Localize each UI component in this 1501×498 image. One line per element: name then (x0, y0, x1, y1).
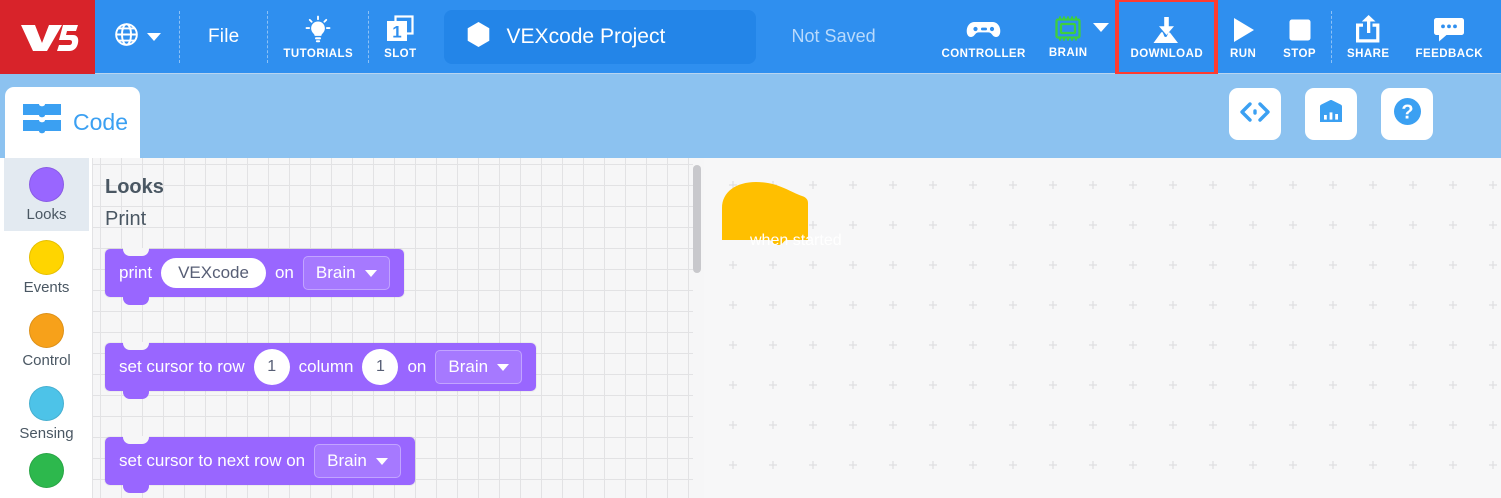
help-button[interactable]: ? (1381, 88, 1433, 140)
toolbar-divider (267, 11, 268, 63)
tutorials-label: TUTORIALS (283, 48, 353, 60)
file-menu-button[interactable]: File (182, 0, 265, 73)
download-icon (1150, 15, 1183, 45)
brain-label: BRAIN (1049, 47, 1088, 59)
set-cursor-next-row-block[interactable]: set cursor to next row on Brain (105, 437, 415, 485)
code-blocks-icon (21, 101, 63, 144)
lightbulb-icon (303, 15, 333, 45)
chip-icon (1051, 14, 1085, 44)
vexcode-app: File TUTORIALS (0, 0, 1501, 498)
run-button[interactable]: RUN (1216, 0, 1270, 74)
run-label: RUN (1230, 48, 1256, 60)
share-label: SHARE (1347, 48, 1390, 60)
share-button[interactable]: SHARE (1334, 0, 1403, 74)
tab-code[interactable]: Code (5, 87, 140, 158)
category-looks[interactable]: Looks (4, 158, 89, 231)
download-label: DOWNLOAD (1130, 48, 1203, 60)
view-code-button[interactable] (1229, 88, 1281, 140)
globe-icon (113, 21, 140, 53)
feedback-button[interactable]: FEEDBACK (1403, 0, 1501, 74)
download-button[interactable]: DOWNLOAD (1117, 0, 1216, 74)
cursor-column-input[interactable]: 1 (362, 349, 398, 385)
editor-body: Looks Events Control Sensing Looks Pri (0, 158, 1501, 498)
block-text: set cursor to next row on (119, 451, 305, 471)
palette-scrollbar-thumb[interactable] (693, 165, 701, 273)
block-palette[interactable]: Looks Print print VEXcode on Brain set c… (93, 158, 693, 498)
brain-button[interactable]: BRAIN (1039, 0, 1092, 74)
brain-group: BRAIN (1039, 0, 1118, 73)
speech-bubble-icon (1433, 15, 1465, 45)
chevron-down-icon (497, 364, 509, 371)
slot-button[interactable]: 1 SLOT (371, 0, 429, 74)
gamepad-icon (966, 15, 1002, 45)
cursor-row-input[interactable]: 1 (254, 349, 290, 385)
controller-label: CONTROLLER (941, 48, 1025, 60)
block-text: column (299, 357, 354, 377)
hexagon-icon (466, 21, 491, 53)
angle-brackets-icon (1239, 99, 1271, 130)
chevron-down-icon (365, 270, 377, 277)
toolbar-spacer (876, 0, 929, 73)
toolbar-divider (179, 11, 180, 63)
category-label: Events (24, 279, 70, 296)
svg-text:1: 1 (393, 23, 402, 42)
stop-button[interactable]: STOP (1270, 0, 1329, 74)
block-text: print (119, 263, 152, 283)
category-rail: Looks Events Control Sensing (0, 158, 93, 498)
category-color-dot (29, 386, 64, 421)
cursor-device-dropdown[interactable]: Brain (435, 350, 522, 384)
tutorials-button[interactable]: TUTORIALS (270, 0, 366, 74)
category-color-dot (29, 167, 64, 202)
share-export-icon (1353, 15, 1383, 45)
category-next[interactable] (4, 450, 89, 490)
print-text-input[interactable]: VEXcode (161, 258, 266, 288)
code-workspace[interactable]: when started (704, 158, 1501, 498)
feedback-label: FEEDBACK (1416, 48, 1484, 60)
print-device-dropdown[interactable]: Brain (303, 256, 390, 290)
slot-pages-icon: 1 (384, 15, 416, 45)
category-label: Looks (26, 206, 66, 223)
category-color-dot (29, 453, 64, 488)
controller-button[interactable]: CONTROLLER (928, 0, 1038, 74)
next-row-device-dropdown[interactable]: Brain (314, 444, 401, 478)
dropdown-value: Brain (448, 357, 488, 377)
category-events[interactable]: Events (4, 231, 89, 304)
toolbar-divider (1331, 11, 1332, 63)
v5-logo[interactable] (0, 0, 95, 74)
print-block[interactable]: print VEXcode on Brain (105, 249, 404, 297)
file-menu-label: File (208, 26, 239, 48)
category-color-dot (29, 240, 64, 275)
block-text: on (407, 357, 426, 377)
dropdown-value: Brain (316, 263, 356, 283)
svg-text:?: ? (1401, 102, 1413, 124)
question-mark-icon: ? (1392, 96, 1423, 132)
save-status-label: Not Saved (792, 26, 876, 47)
brain-monitor-button[interactable] (1305, 88, 1357, 140)
play-icon (1229, 15, 1257, 45)
tabbar-right-buttons: ? (1229, 88, 1433, 140)
brain-chevron-down-icon[interactable] (1093, 23, 1109, 32)
stop-square-icon (1286, 15, 1314, 45)
brain-monitor-icon (1316, 97, 1346, 131)
block-text: set cursor to row (119, 357, 245, 377)
chevron-down-icon (147, 33, 161, 41)
stop-label: STOP (1283, 48, 1316, 60)
category-color-dot (29, 313, 64, 348)
dropdown-value: Brain (327, 451, 367, 471)
tab-bar: Code (0, 74, 1501, 158)
slot-label: SLOT (384, 48, 416, 60)
palette-subheading: Print (105, 208, 693, 231)
language-button[interactable] (95, 0, 177, 73)
main-toolbar: File TUTORIALS (0, 0, 1501, 74)
tab-code-label: Code (73, 109, 128, 136)
toolbar-divider (368, 11, 369, 63)
palette-heading: Looks (105, 176, 693, 199)
set-cursor-row-column-block[interactable]: set cursor to row 1 column 1 on Brain (105, 343, 536, 391)
block-text: on (275, 263, 294, 283)
palette-scrollbar[interactable] (690, 158, 704, 498)
category-label: Sensing (19, 425, 73, 442)
category-label: Control (22, 352, 70, 369)
palette-content: Looks Print print VEXcode on Brain set c… (93, 158, 693, 498)
when-started-block[interactable]: when started (722, 180, 837, 248)
project-name-button[interactable]: VEXcode Project (444, 10, 756, 64)
project-name-label: VEXcode Project (507, 25, 666, 49)
chevron-down-icon (376, 458, 388, 465)
category-sensing[interactable]: Sensing (4, 377, 89, 450)
category-control[interactable]: Control (4, 304, 89, 377)
